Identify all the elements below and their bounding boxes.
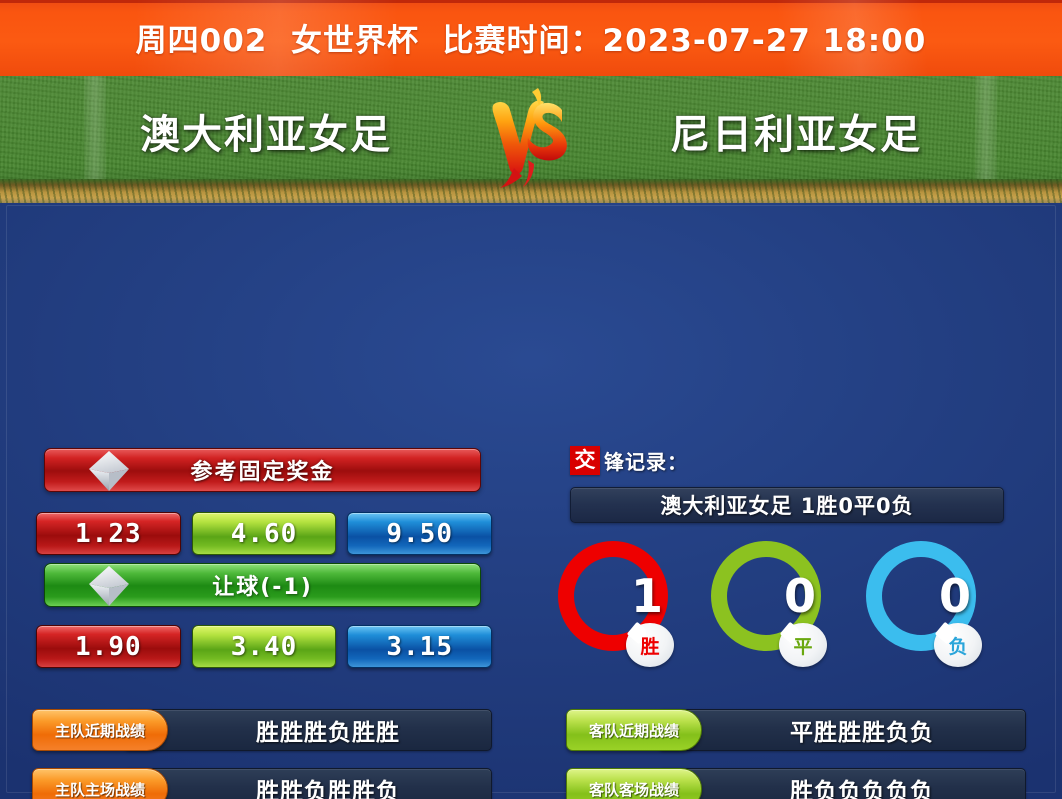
away-recent-value: 平胜胜胜负负 [750, 713, 934, 747]
home-team-name: 澳大利亚女足 [56, 102, 476, 160]
h2h-win-badge: 胜 [626, 623, 674, 667]
vs-icon [476, 82, 586, 192]
record-row-home-recent: 主队近期战绩 胜胜胜负胜胜 [32, 709, 492, 751]
handicap-odd-draw[interactable]: 3.40 [192, 625, 337, 668]
away-away-value: 胜负负负负负 [750, 772, 934, 799]
tag-away-away: 客队客场战绩 [566, 768, 702, 799]
h2h-heading-text: 锋记录： [604, 446, 688, 475]
home-recent-panel: 胜胜胜负胜胜 [124, 709, 492, 751]
fixed-bonus-title-bar: 参考固定奖金 [44, 448, 481, 492]
header-bar: 周四002 女世界杯 比赛时间：2023-07-27 18:00 [0, 0, 1062, 76]
page-title: 周四002 女世界杯 比赛时间：2023-07-27 18:00 [0, 0, 1062, 76]
diamond-icon [81, 558, 137, 614]
fixed-odd-draw[interactable]: 4.60 [192, 512, 337, 555]
h2h-lose-badge: 负 [934, 623, 982, 667]
h2h-ring-win: 1 胜 [558, 541, 674, 681]
h2h-summary: 澳大利亚女足 1胜0平0负 [570, 487, 1004, 523]
fixed-bonus-title: 参考固定奖金 [190, 454, 334, 486]
h2h-rings: 1 胜 0 平 0 负 [548, 541, 1028, 681]
away-away-panel: 胜负负负负负 [658, 768, 1026, 799]
match-preview-card: 周四002 女世界杯 比赛时间：2023-07-27 18:00 澳大利亚女足 [0, 0, 1062, 799]
away-recent-panel: 平胜胜胜负负 [658, 709, 1026, 751]
home-home-panel: 胜胜负胜胜负 [124, 768, 492, 799]
handicap-title: 让球(-1) [212, 569, 313, 601]
handicap-odd-lose[interactable]: 3.15 [347, 625, 492, 668]
home-recent-value: 胜胜胜负胜胜 [216, 713, 400, 747]
h2h-draw-badge: 平 [779, 623, 827, 667]
teams-banner: 澳大利亚女足 [0, 76, 1062, 203]
h2h-ring-draw: 0 平 [711, 541, 827, 681]
teams-row: 澳大利亚女足 [0, 76, 1062, 203]
h2h-heading-chip: 交 [570, 446, 600, 475]
fixed-odd-lose[interactable]: 9.50 [347, 512, 492, 555]
h2h-heading: 交 锋记录： [570, 446, 688, 475]
main-body: 参考固定奖金 1.23 [0, 203, 1062, 799]
handicap-odd-win[interactable]: 1.90 [36, 625, 181, 668]
diamond-icon [81, 443, 137, 499]
tag-home-home: 主队主场战绩 [32, 768, 168, 799]
h2h-ring-lose: 0 负 [866, 541, 982, 681]
handicap-title-bar: 让球(-1) [44, 563, 481, 607]
away-team-name: 尼日利亚女足 [586, 102, 1006, 160]
fixed-odds-row: 1.23 4.60 9.50 [36, 512, 492, 555]
fixed-odd-win[interactable]: 1.23 [36, 512, 181, 555]
home-home-value: 胜胜负胜胜负 [216, 772, 400, 799]
record-row-home-home: 主队主场战绩 胜胜负胜胜负 [32, 768, 492, 799]
record-row-away-recent: 客队近期战绩 平胜胜胜负负 [566, 709, 1026, 751]
handicap-odds-row: 1.90 3.40 3.15 [36, 625, 492, 668]
tag-away-recent: 客队近期战绩 [566, 709, 702, 751]
record-row-away-away: 客队客场战绩 胜负负负负负 [566, 768, 1026, 799]
tag-home-recent: 主队近期战绩 [32, 709, 168, 751]
